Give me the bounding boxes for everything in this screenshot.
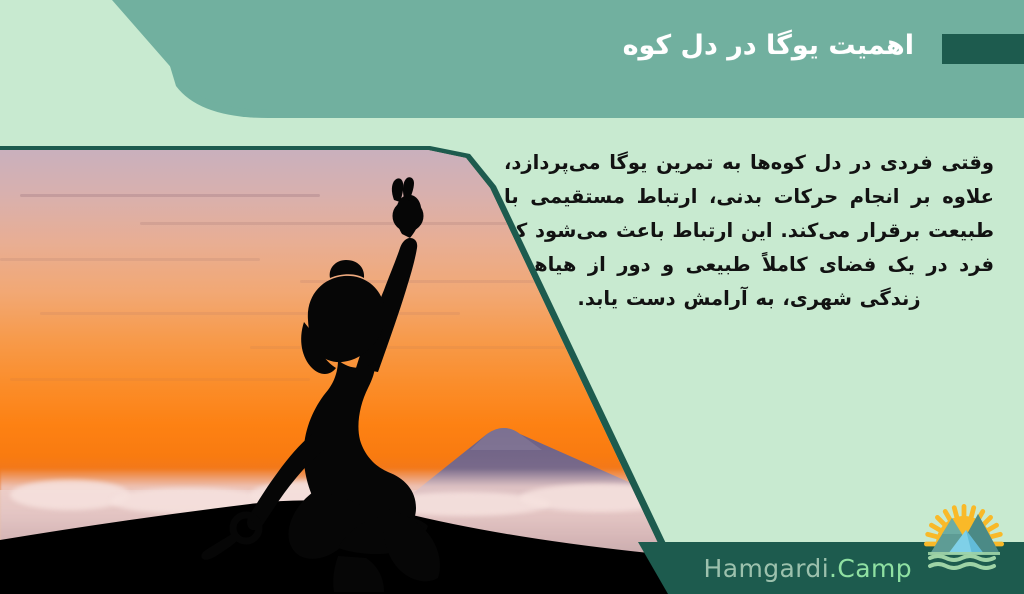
sun-mountain-tent-logo-icon	[922, 488, 1006, 572]
yoga-silhouette	[188, 172, 518, 592]
infographic-canvas: اهمیت یوگا در دل کوه وقتی فردی در دل کوه…	[0, 0, 1024, 594]
page-title: اهمیت یوگا در دل کوه	[444, 26, 914, 66]
logo-water	[930, 556, 994, 568]
brand-wordmark: Hamgardi.Camp	[704, 554, 912, 583]
body-paragraph: وقتی فردی در دل کوه‌ها به تمرین یوگا می‌…	[504, 146, 994, 316]
brand-suffix: .Camp	[829, 554, 912, 583]
brand-name: Hamgardi	[704, 554, 830, 583]
header-accent-bar	[942, 34, 1024, 64]
